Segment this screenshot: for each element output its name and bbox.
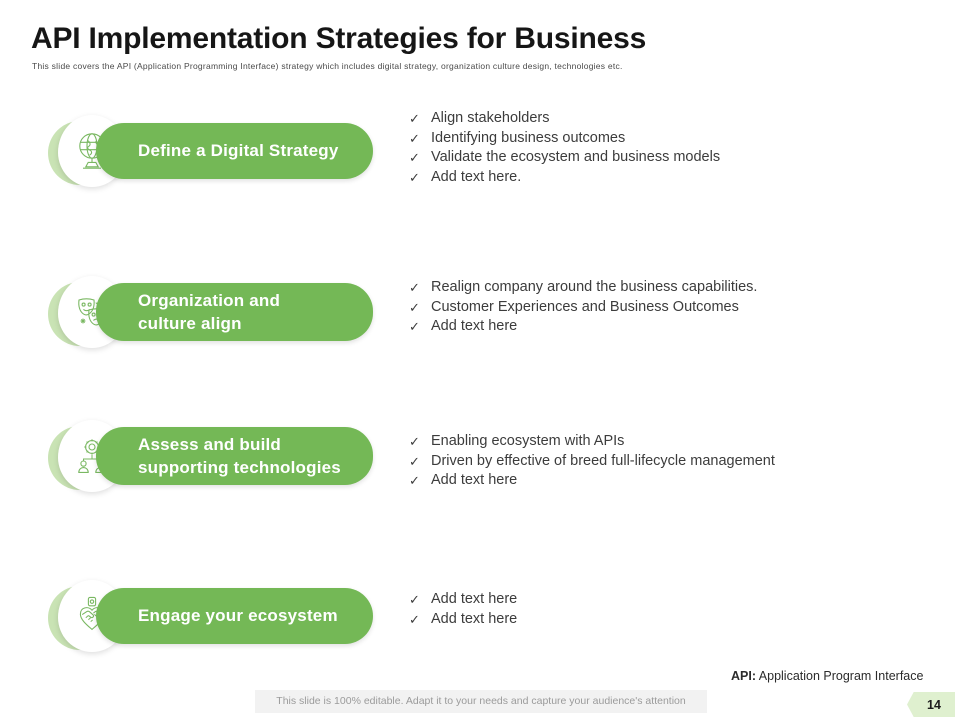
strategy-row: Engage your ecosystem ✓ Add text here ✓ … — [0, 570, 960, 680]
footer-banner: This slide is 100% editable. Adapt it to… — [255, 690, 707, 713]
bullet-list: ✓ Enabling ecosystem with APIs ✓ Driven … — [409, 432, 929, 491]
list-item-label: Add text here — [431, 471, 517, 491]
page-number: 14 — [907, 692, 955, 717]
check-icon: ✓ — [409, 168, 431, 188]
check-icon: ✓ — [409, 317, 431, 337]
list-item-label: Add text here — [431, 317, 517, 337]
list-item: ✓ Align stakeholders — [409, 109, 929, 129]
list-item-label: Identifying business outcomes — [431, 129, 625, 149]
check-icon: ✓ — [409, 610, 431, 630]
strategy-row: Assess and build supporting technologies… — [0, 410, 960, 520]
page-number-tag: 14 — [907, 692, 955, 717]
list-item-label: Add text here — [431, 610, 517, 630]
api-legend-expansion: Application Program Interface — [756, 669, 923, 683]
list-item: ✓ Add text here — [409, 610, 929, 630]
check-icon: ✓ — [409, 129, 431, 149]
check-icon: ✓ — [409, 148, 431, 168]
list-item: ✓ Customer Experiences and Business Outc… — [409, 298, 929, 318]
strategy-row: Define a Digital Strategy ✓ Align stakeh… — [0, 105, 960, 215]
strategy-pill[interactable]: Define a Digital Strategy — [96, 123, 373, 179]
api-legend-abbrev: API: — [731, 669, 756, 683]
list-item-label: Enabling ecosystem with APIs — [431, 432, 624, 452]
strategy-pill[interactable]: Assess and build supporting technologies — [96, 427, 373, 485]
list-item: ✓ Enabling ecosystem with APIs — [409, 432, 929, 452]
list-item-label: Customer Experiences and Business Outcom… — [431, 298, 739, 318]
check-icon: ✓ — [409, 109, 431, 129]
list-item-label: Add text here — [431, 590, 517, 610]
strategy-pill-label: Organization and culture align — [96, 289, 292, 336]
list-item-label: Driven by effective of breed full-lifecy… — [431, 452, 775, 472]
strategy-row: Organization and culture align ✓ Realign… — [0, 266, 960, 376]
bullet-list: ✓ Align stakeholders ✓ Identifying busin… — [409, 109, 929, 187]
bullet-list: ✓ Add text here ✓ Add text here — [409, 590, 929, 629]
list-item: ✓ Realign company around the business ca… — [409, 278, 929, 298]
strategy-pill[interactable]: Organization and culture align — [96, 283, 373, 341]
list-item-label: Align stakeholders — [431, 109, 550, 129]
strategy-pill-label: Assess and build supporting technologies — [96, 433, 353, 480]
bullet-list: ✓ Realign company around the business ca… — [409, 278, 929, 337]
check-icon: ✓ — [409, 471, 431, 491]
list-item: ✓ Validate the ecosystem and business mo… — [409, 148, 929, 168]
page-subtitle: This slide covers the API (Application P… — [32, 61, 623, 71]
strategy-pill-label: Engage your ecosystem — [96, 605, 350, 627]
list-item: ✓ Driven by effective of breed full-life… — [409, 452, 929, 472]
list-item-label: Realign company around the business capa… — [431, 278, 757, 298]
api-legend: API: Application Program Interface — [731, 669, 923, 683]
list-item-label: Validate the ecosystem and business mode… — [431, 148, 720, 168]
check-icon: ✓ — [409, 590, 431, 610]
check-icon: ✓ — [409, 298, 431, 318]
list-item: ✓ Add text here — [409, 471, 929, 491]
check-icon: ✓ — [409, 432, 431, 452]
list-item: ✓ Add text here. — [409, 168, 929, 188]
list-item: ✓ Identifying business outcomes — [409, 129, 929, 149]
check-icon: ✓ — [409, 278, 431, 298]
strategy-pill[interactable]: Engage your ecosystem — [96, 588, 373, 644]
page-title: API Implementation Strategies for Busine… — [31, 22, 646, 56]
strategy-pill-label: Define a Digital Strategy — [96, 140, 351, 162]
footer-note: This slide is 100% editable. Adapt it to… — [255, 690, 707, 713]
list-item-label: Add text here. — [431, 168, 521, 188]
list-item: ✓ Add text here — [409, 317, 929, 337]
check-icon: ✓ — [409, 452, 431, 472]
list-item: ✓ Add text here — [409, 590, 929, 610]
